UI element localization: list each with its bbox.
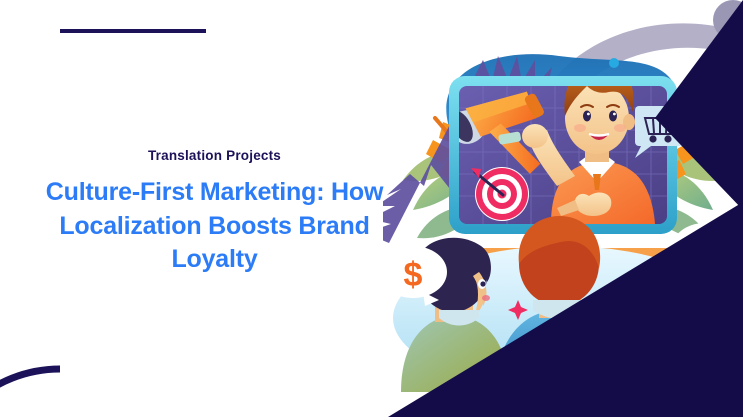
eyebrow-label: Translation Projects: [32, 148, 397, 164]
text-block: Translation Projects Culture-First Marke…: [32, 148, 397, 277]
top-decorative-rule: [60, 29, 206, 33]
illustration: $: [383, 0, 743, 417]
dollar-sign-icon-left: $: [404, 256, 423, 294]
blue-dot-icon: [609, 58, 619, 68]
blog-banner: $: [0, 0, 743, 417]
white-dot-icon: [724, 266, 733, 275]
bottom-left-arcs: [0, 259, 170, 417]
page-title: Culture-First Marketing: How Localizatio…: [32, 176, 397, 277]
